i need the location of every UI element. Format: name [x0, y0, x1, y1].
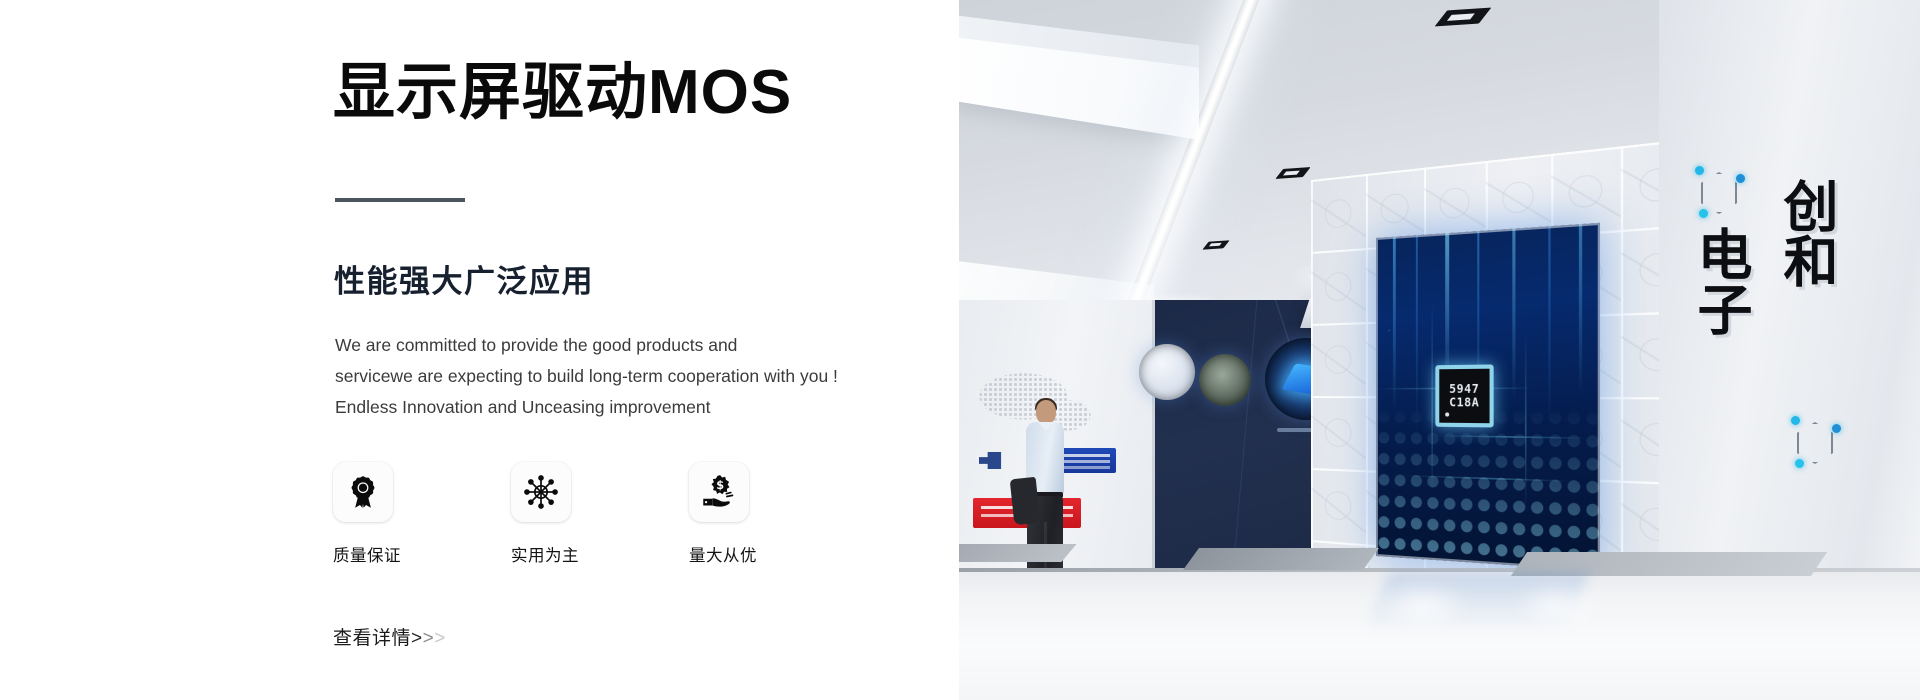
hexagon-molecule-icon: [1789, 414, 1843, 474]
hero-banner: 显示屏驱动MOS 性能强大广泛应用 We are committed to pr…: [0, 0, 1920, 700]
hexagon-molecule-icon: [1693, 164, 1747, 224]
feature-item-practical[interactable]: 实用为主: [511, 462, 631, 566]
network-hub-icon: [523, 474, 559, 510]
company-logo: 创和 电子: [1683, 178, 1883, 428]
light-reflection: [1515, 586, 1599, 628]
ceiling-spotlight-icon: [1435, 8, 1492, 27]
floor-inset: [1183, 548, 1379, 570]
title-divider: [335, 198, 465, 202]
logo-text-right: 创和: [1775, 178, 1837, 288]
led-video-wall: 5947 C18A: [1376, 223, 1600, 571]
cta-label: 查看详情: [333, 628, 411, 649]
chevron-3-icon: >: [434, 628, 446, 649]
exhibit-medallion: [1139, 344, 1195, 400]
hero-paragraph: We are committed to provide the good pro…: [335, 330, 895, 423]
feature-label: 质量保证: [333, 542, 453, 566]
award-ribbon-icon: [345, 474, 381, 510]
hero-subtitle: 性能强大广泛应用: [334, 266, 594, 297]
glossy-floor: [959, 570, 1920, 700]
paragraph-line: servicewe are expecting to build long-te…: [335, 361, 895, 392]
logo-text-left: 电子: [1689, 226, 1751, 336]
exhibit-medallion: [1199, 354, 1251, 406]
feature-item-bulk-discount[interactable]: $ 量大从优: [689, 462, 809, 566]
feature-label: 实用为主: [511, 542, 631, 566]
feature-badge: [333, 462, 393, 522]
feature-badge: $: [689, 462, 749, 522]
hand-bag: [1010, 477, 1041, 525]
paragraph-line: Endless Innovation and Unceasing improve…: [335, 392, 895, 423]
hand-money-icon: $: [701, 474, 737, 510]
hero-content-panel: 显示屏驱动MOS 性能强大广泛应用 We are committed to pr…: [0, 0, 960, 700]
ceiling-spotlight-icon: [1202, 240, 1229, 249]
showroom-photo: 5947 C18A 创和 电子: [959, 0, 1920, 700]
head: [1036, 400, 1056, 424]
chevron-2-icon: >: [423, 628, 435, 649]
chip-graphic: 5947 C18A: [1435, 364, 1493, 427]
chevron-1-icon: >: [411, 628, 423, 649]
floor-inset: [959, 544, 1077, 562]
feature-item-quality[interactable]: 质量保证: [333, 462, 453, 566]
feature-label: 量大从优: [689, 542, 809, 566]
feature-badge: [511, 462, 571, 522]
light-reflection: [1377, 584, 1469, 630]
svg-text:$: $: [716, 479, 724, 492]
ceiling-light-panel: [959, 28, 1199, 140]
page-title: 显示屏驱动MOS: [333, 62, 792, 124]
paragraph-line: We are committed to provide the good pro…: [335, 330, 895, 361]
chip-label-line2: C18A: [1449, 396, 1479, 410]
chip-pin1-dot: [1445, 412, 1449, 416]
feature-list: 质量保证: [333, 462, 809, 566]
view-details-link[interactable]: 查看详情>>>: [333, 623, 446, 650]
ceiling-spotlight-icon: [1275, 167, 1310, 179]
